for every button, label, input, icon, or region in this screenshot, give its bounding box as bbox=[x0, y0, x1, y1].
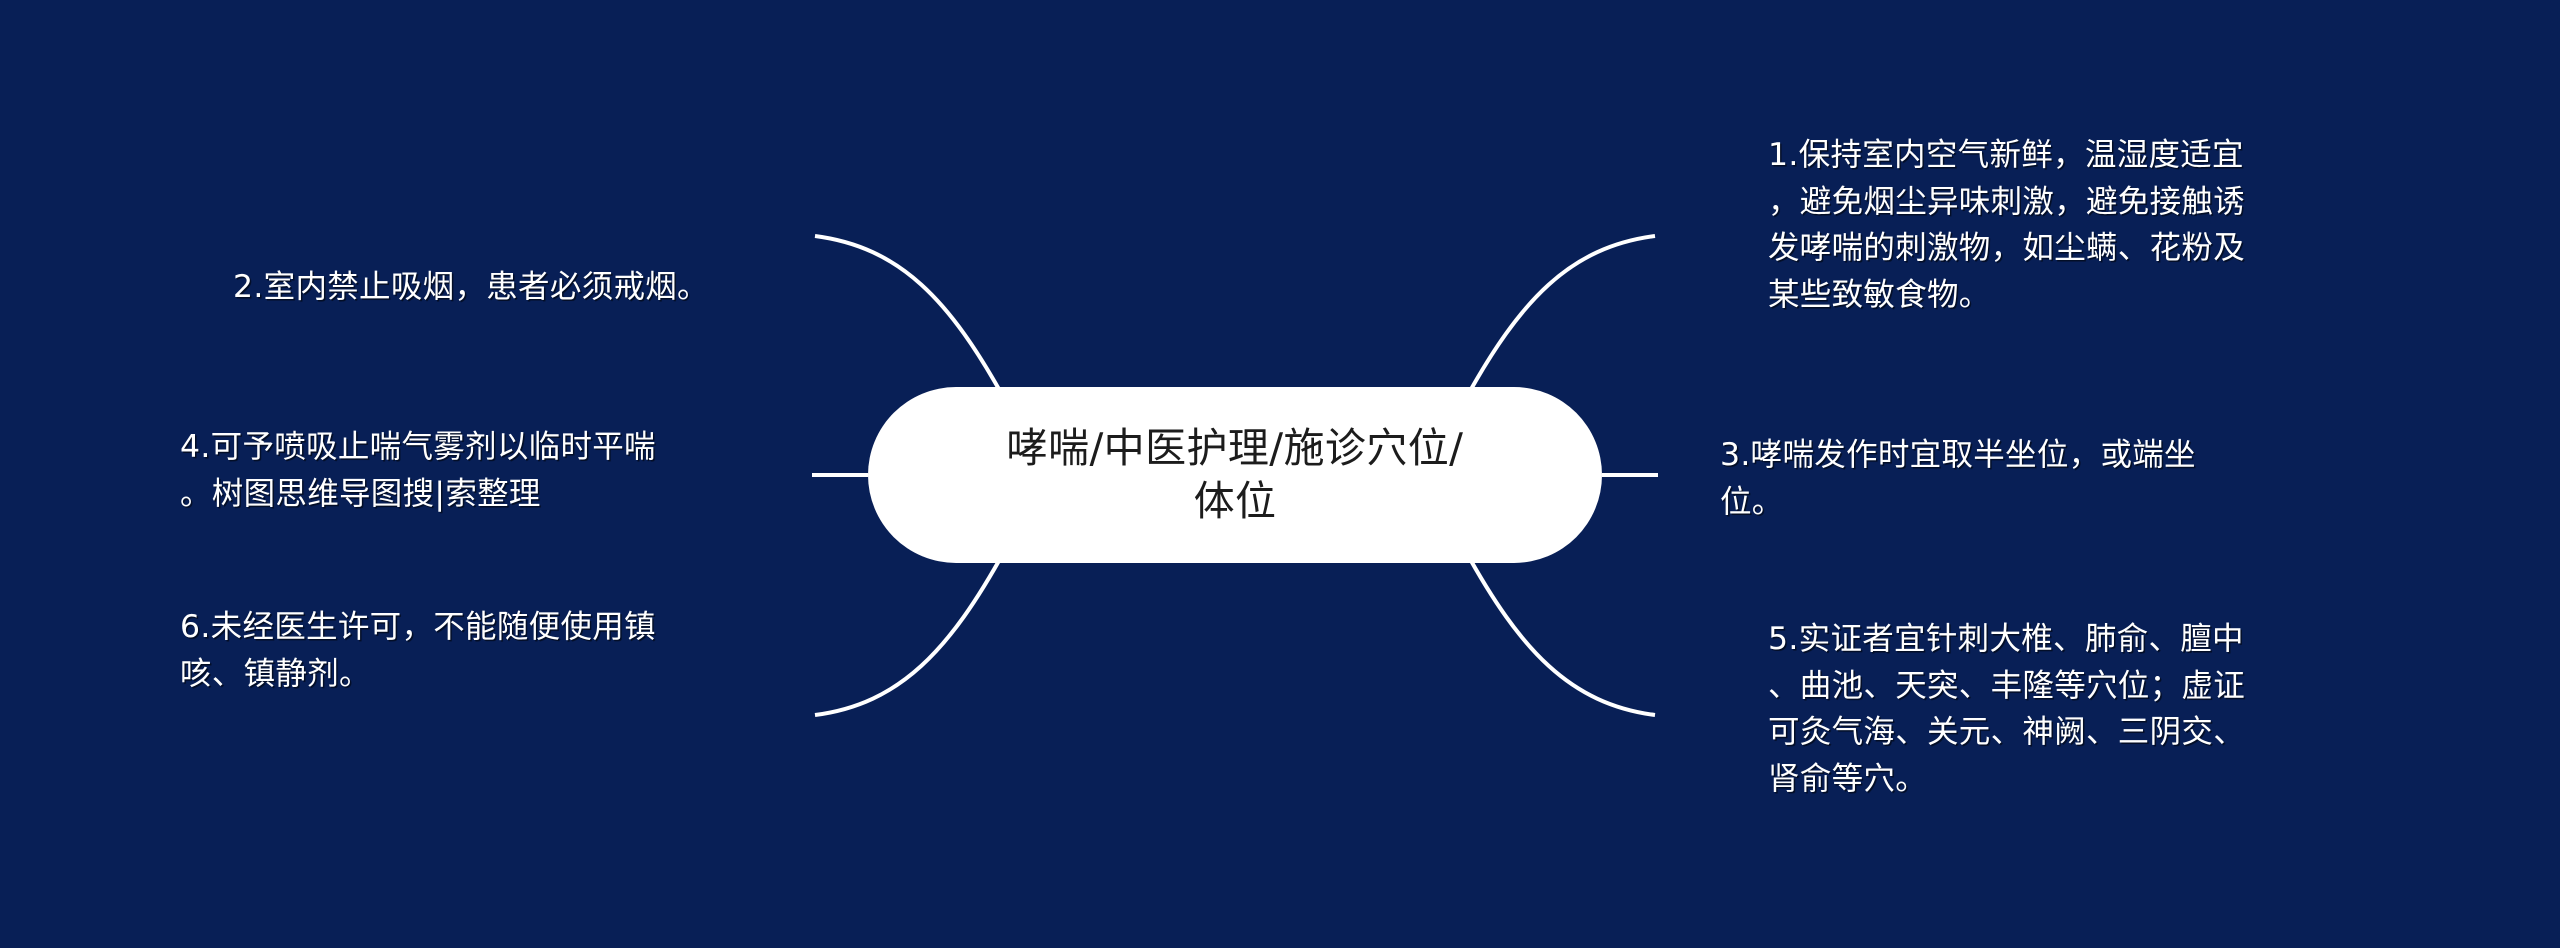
branch-node-3[interactable]: 3.哮喘发作时宜取半坐位，或端坐 位。 bbox=[1720, 432, 2340, 525]
central-node[interactable]: 哮喘/中医护理/施诊穴位/ 体位 bbox=[868, 387, 1602, 563]
connector-branch-1 bbox=[1465, 236, 1655, 400]
branch-node-1[interactable]: 1.保持室内空气新鲜，温湿度适宜 ，避免烟尘异味刺激，避免接触诱 发哮喘的刺激物… bbox=[1768, 132, 2388, 318]
connector-branch-2 bbox=[815, 236, 1005, 400]
central-node-label: 哮喘/中医护理/施诊穴位/ 体位 bbox=[973, 422, 1498, 529]
mindmap-canvas: 哮喘/中医护理/施诊穴位/ 体位 1.保持室内空气新鲜，温湿度适宜 ，避免烟尘异… bbox=[0, 0, 2560, 948]
branch-node-4[interactable]: 4.可予喷吸止喘气雾剂以临时平喘 。树图思维导图搜|索整理 bbox=[180, 424, 760, 517]
branch-node-2[interactable]: 2.室内禁止吸烟，患者必须戒烟。 bbox=[233, 264, 813, 311]
connector-branch-5 bbox=[1465, 550, 1655, 715]
branch-node-5[interactable]: 5.实证者宜针刺大椎、肺俞、膻中 、曲池、天突、丰隆等穴位；虚证 可灸气海、关元… bbox=[1768, 616, 2388, 802]
branch-node-6[interactable]: 6.未经医生许可，不能随便使用镇 咳、镇静剂。 bbox=[180, 604, 760, 697]
connector-branch-6 bbox=[815, 550, 1005, 715]
